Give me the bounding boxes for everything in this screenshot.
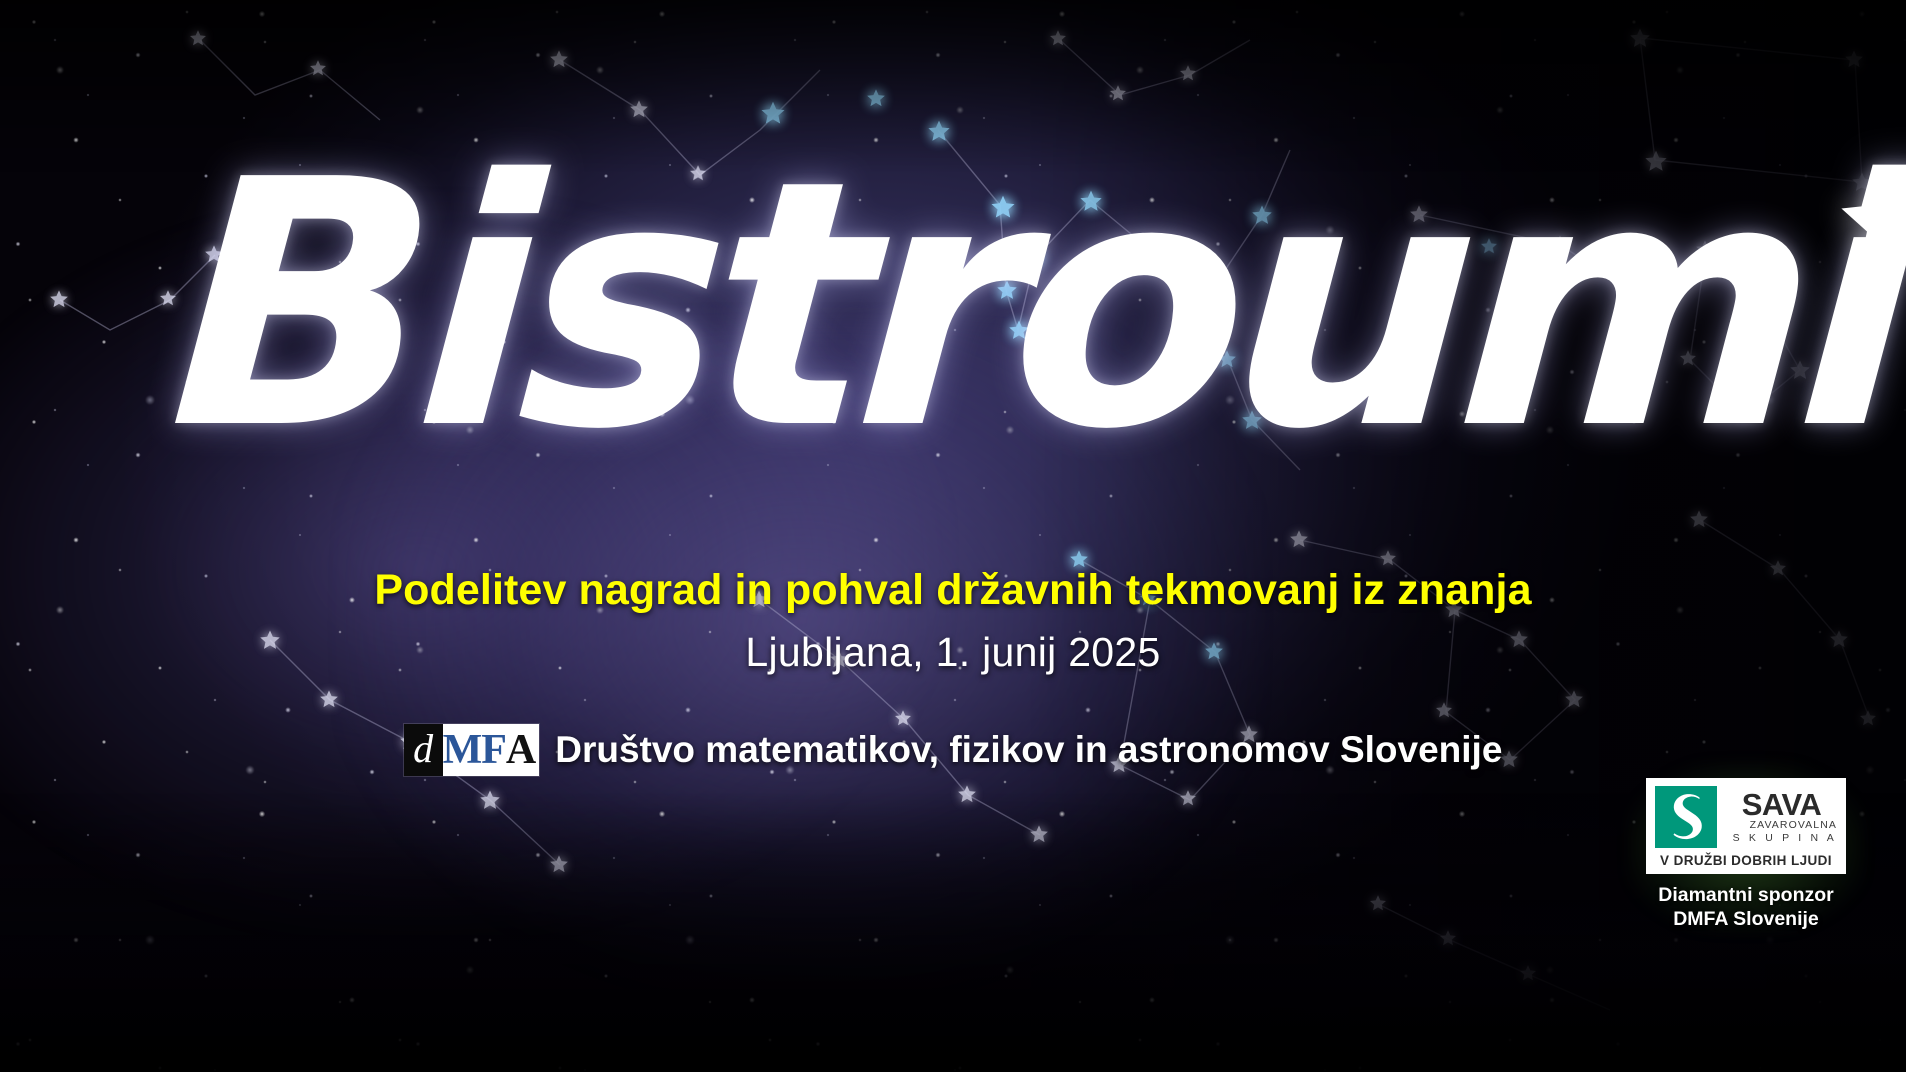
sava-wordmark: SAVA ZAVAROVALNA S K U P I N A [1726, 786, 1837, 848]
sava-logo-top: SAVA ZAVAROVALNA S K U P I N A [1655, 786, 1837, 848]
dmfa-logo-a: A [506, 729, 535, 771]
sponsor-caption-line2: DMFA Slovenije [1646, 907, 1846, 931]
organization-row: d MFA Društvo matematikov, fizikov in as… [0, 724, 1906, 776]
vignette-bottom [0, 793, 1906, 1072]
sava-logo: SAVA ZAVAROVALNA S K U P I N A V DRUŽBI … [1646, 778, 1846, 874]
star-icon [1838, 168, 1906, 272]
sava-tagline: V DRUŽBI DOBRIH LJUDI [1655, 853, 1837, 868]
sponsor-block: SAVA ZAVAROVALNA S K U P I N A V DRUŽBI … [1646, 778, 1846, 931]
sava-sub-line2: S K U P I N A [1726, 832, 1837, 845]
dmfa-logo-d: d [404, 724, 443, 776]
sponsor-caption-line1: Diamantni sponzor [1646, 883, 1846, 907]
dmfa-logo-mf: MF [443, 729, 506, 771]
presentation-slide: Bistroumi Podelitev nagrad in pohval drž… [0, 0, 1906, 1072]
page-title: Bistroumi [165, 150, 1906, 463]
title-block: Bistroumi [0, 150, 1906, 463]
sava-s-swoosh-path [1655, 786, 1717, 848]
event-date: Ljubljana, 1. junij 2025 [0, 629, 1906, 676]
sava-s-swoosh-icon [1655, 786, 1717, 848]
sponsor-caption: Diamantni sponzor DMFA Slovenije [1646, 883, 1846, 931]
slide-subtitle: Podelitev nagrad in pohval državnih tekm… [0, 566, 1906, 615]
dmfa-logo-icon: d MFA [404, 724, 540, 776]
sava-brand-name: SAVA [1726, 791, 1837, 820]
dmfa-logo-mfa: MFA [443, 724, 540, 776]
organization-name: Društvo matematikov, fizikov in astronom… [555, 729, 1502, 771]
sava-sub-line1: ZAVAROVALNA [1726, 819, 1837, 832]
